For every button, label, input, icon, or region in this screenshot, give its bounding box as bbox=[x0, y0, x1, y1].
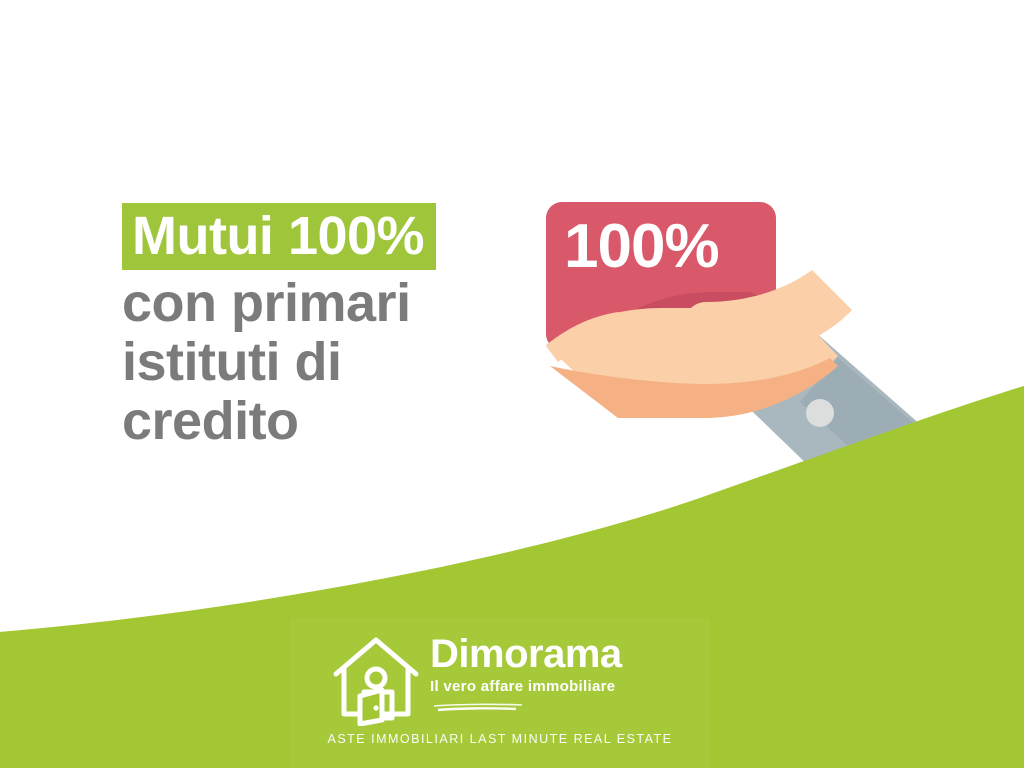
badge-label: 100% bbox=[564, 214, 784, 280]
headline-line-1: con primari bbox=[122, 274, 542, 333]
logo-tagline: Il vero affare immobiliare bbox=[430, 677, 710, 697]
logo-wordmark: Dimorama bbox=[430, 632, 710, 676]
headline-highlight: Mutui 100% bbox=[122, 203, 436, 270]
headline-line-3: credito bbox=[122, 392, 542, 451]
promo-banner: Mutui 100% con primari istituti di credi… bbox=[0, 0, 1024, 768]
headline-lines: con primari istituti di credito bbox=[122, 274, 542, 451]
house-with-door-icon bbox=[330, 634, 422, 726]
headline-line-2: istituti di bbox=[122, 333, 542, 392]
logo-text-block: Dimorama Il vero affare immobiliare bbox=[430, 632, 710, 718]
headline-highlight-wrapper: Mutui 100% bbox=[122, 203, 542, 270]
logo-underline-stroke bbox=[432, 703, 524, 713]
sleeve-button bbox=[806, 399, 834, 427]
headline-block: Mutui 100% con primari istituti di credi… bbox=[122, 203, 542, 451]
brand-logo: Dimorama Il vero affare immobiliare ASTE… bbox=[290, 618, 710, 768]
logo-subline: ASTE IMMOBILIARI LAST MINUTE REAL ESTATE bbox=[290, 731, 710, 747]
